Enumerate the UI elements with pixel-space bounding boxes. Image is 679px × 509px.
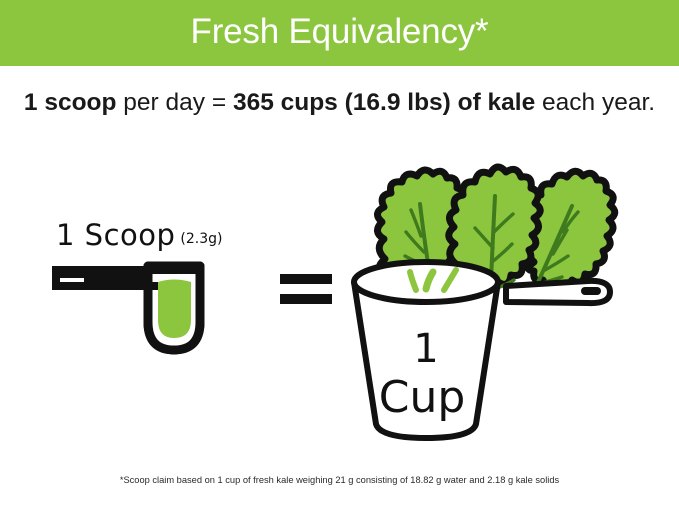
scoop-label: 1 Scoop(2.3g) bbox=[56, 218, 223, 252]
cup-handle-hole bbox=[581, 287, 601, 295]
illustration-area: 1 Scoop(2.3g) bbox=[0, 140, 679, 460]
measuring-cup-illustration-group: 1 Cup bbox=[338, 144, 638, 444]
statement-scoop-amount: 1 scoop bbox=[24, 89, 117, 116]
scoop-handle-base bbox=[84, 282, 158, 290]
cup-handle bbox=[506, 281, 610, 303]
scoop-powder-fill bbox=[158, 280, 191, 339]
cup-unit-label: Cup bbox=[379, 372, 466, 423]
footnote-disclaimer: *Scoop claim based on 1 cup of fresh kal… bbox=[0, 474, 679, 487]
equals-sign: = bbox=[278, 270, 334, 312]
scoop-label-text: 1 Scoop bbox=[56, 218, 175, 252]
statement-kale-amount: 365 cups (16.9 lbs) of kale bbox=[233, 89, 535, 116]
equals-bar-top bbox=[280, 274, 332, 284]
statement-connector: per day = bbox=[116, 89, 232, 116]
scoop-weight-text: (2.3g) bbox=[175, 231, 222, 247]
scoop-icon bbox=[48, 260, 258, 355]
cup-amount-label: 1 bbox=[413, 326, 438, 372]
fresh-equivalency-infographic: Fresh Equivalency* 1 scoop per day = 365… bbox=[0, 0, 679, 509]
equals-bar-bottom bbox=[280, 294, 332, 304]
header-banner: Fresh Equivalency* bbox=[0, 0, 679, 66]
page-title: Fresh Equivalency* bbox=[191, 14, 489, 53]
scoop-illustration-group: 1 Scoop(2.3g) bbox=[48, 218, 263, 358]
statement-period: each year. bbox=[535, 89, 655, 116]
equivalency-statement: 1 scoop per day = 365 cups (16.9 lbs) of… bbox=[0, 88, 679, 118]
